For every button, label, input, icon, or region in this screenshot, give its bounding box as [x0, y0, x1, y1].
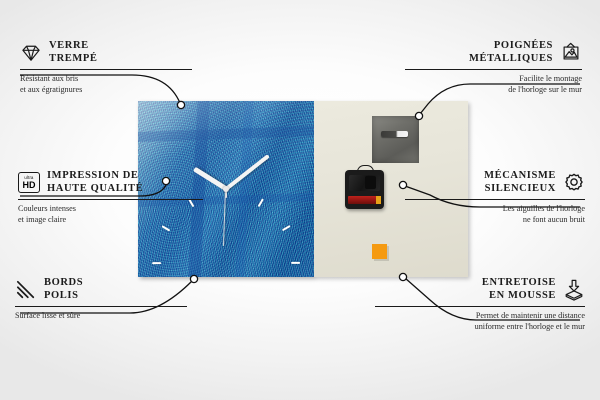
callout-subtitle-line1: Résistant aux bris	[20, 73, 192, 84]
callout-title: ENTRETOISE EN MOUSSE	[375, 277, 556, 303]
callout-divider	[18, 199, 203, 200]
callout-subtitle-line2: uniforme entre l'horloge et le mur	[375, 321, 585, 332]
callout-header: BORDS POLIS	[15, 277, 187, 303]
clock-tick	[282, 225, 291, 231]
callout-divider	[15, 306, 187, 307]
clock-tick	[152, 262, 161, 264]
ultra-hd-big-label: HD	[23, 181, 36, 190]
callout-header: ultra HD IMPRESSION DE HAUTE QUALITÉ	[18, 170, 203, 196]
callout-subtitle-line2: et aux égratignures	[20, 84, 192, 95]
gear-icon	[563, 172, 585, 194]
callout-impression-haute-qualite: ultra HD IMPRESSION DE HAUTE QUALITÉ Cou…	[18, 170, 203, 225]
clock-hands-hub	[223, 186, 229, 192]
callout-entretoise-en-mousse: ENTRETOISE EN MOUSSE Permet de maintenir…	[375, 277, 585, 332]
metal-hanger-plate	[372, 116, 419, 163]
callout-header: VERRE TREMPÉ	[20, 40, 192, 66]
clock-tick	[291, 262, 300, 264]
ultra-hd-badge: ultra HD	[18, 172, 40, 193]
callout-subtitle-line2: et image claire	[18, 214, 203, 225]
hanger-keyhole-slot	[381, 131, 408, 137]
clock-tick	[258, 198, 264, 207]
callout-divider	[405, 199, 585, 200]
callout-divider	[405, 69, 582, 70]
callout-divider	[20, 69, 192, 70]
callout-subtitle-line2: ne font aucun bruit	[405, 214, 585, 225]
foam-spacer-pad	[372, 244, 387, 259]
mechanism-wire-loop	[357, 165, 374, 175]
callout-subtitle-line1: Facilite le montage	[405, 73, 582, 84]
callout-subtitle-line1: Les aiguilles de l'horloge	[405, 203, 585, 214]
polished-edges-icon	[15, 279, 37, 301]
callout-title: IMPRESSION DE HAUTE QUALITÉ	[47, 170, 143, 196]
callout-title: POIGNÉES MÉTALLIQUES	[405, 40, 553, 66]
clock-tick	[161, 225, 170, 231]
product-feature-infographic: VERRE TREMPÉ Résistant aux bris et aux é…	[0, 0, 600, 400]
ultra-hd-icon: ultra HD	[18, 172, 40, 194]
battery-positive-tip	[376, 196, 381, 204]
clock-mechanism-box	[345, 170, 384, 209]
callout-title: VERRE TREMPÉ	[49, 40, 98, 66]
clock-minute-hand	[225, 154, 270, 190]
callout-header: MÉCANISME SILENCIEUX	[405, 170, 585, 196]
picture-frame-hanger-icon	[560, 42, 582, 64]
callout-subtitle-line2: de l'horloge sur le mur	[405, 84, 582, 95]
callout-subtitle-line1: Surface lisse et sûre	[15, 310, 187, 321]
callout-mecanisme-silencieux: MÉCANISME SILENCIEUX Les aiguilles de l'…	[405, 170, 585, 225]
callout-header: POIGNÉES MÉTALLIQUES	[405, 40, 582, 66]
callout-divider	[375, 306, 585, 307]
mechanism-dial-detail	[365, 176, 376, 189]
callout-header: ENTRETOISE EN MOUSSE	[375, 277, 585, 303]
battery	[348, 196, 381, 204]
callout-subtitle-line1: Couleurs intenses	[18, 203, 203, 214]
callout-subtitle-line1: Permet de maintenir une distance	[375, 310, 585, 321]
diamond-icon	[20, 42, 42, 64]
callout-title: MÉCANISME SILENCIEUX	[405, 170, 556, 196]
foam-spacer-icon	[563, 279, 585, 301]
callout-bords-polis: BORDS POLIS Surface lisse et sûre	[15, 277, 187, 321]
callout-verre-trempe: VERRE TREMPÉ Résistant aux bris et aux é…	[20, 40, 192, 95]
callout-poignees-metalliques: POIGNÉES MÉTALLIQUES Facilite le montage…	[405, 40, 582, 95]
callout-title: BORDS POLIS	[44, 277, 83, 303]
